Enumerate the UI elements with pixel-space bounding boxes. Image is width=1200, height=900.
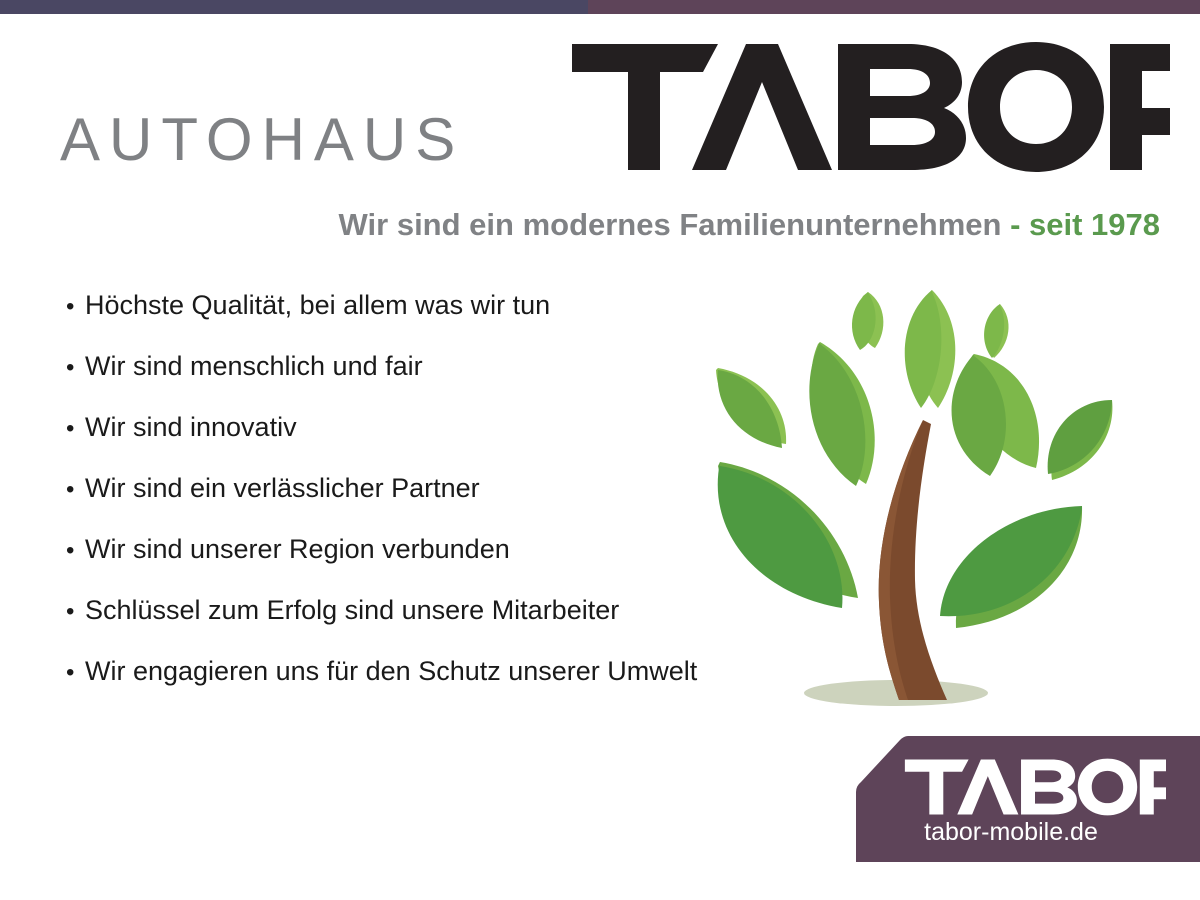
leaf-top-center bbox=[905, 290, 956, 408]
corner-brand-banner: tabor-mobile.de bbox=[856, 736, 1200, 862]
list-item-label: Wir sind ein verlässlicher Partner bbox=[85, 475, 480, 502]
tabor-wordmark-logo bbox=[570, 42, 1170, 172]
tagline: Wir sind ein modernes Familienunternehme… bbox=[0, 208, 1160, 242]
bullet-dot-icon: • bbox=[66, 295, 85, 319]
bullet-dot-icon: • bbox=[66, 661, 85, 685]
list-item-label: Höchste Qualität, bei allem was wir tun bbox=[85, 292, 550, 319]
tagline-accent-text: - seit 1978 bbox=[1010, 207, 1160, 242]
list-item-label: Wir engagieren uns für den Schutz unsere… bbox=[85, 658, 697, 685]
stylized-tree-icon bbox=[700, 268, 1130, 718]
bullet-dot-icon: • bbox=[66, 417, 85, 441]
leaf-upper-left bbox=[809, 342, 874, 486]
leaf-upper-right bbox=[952, 354, 1040, 476]
leaf-far-left bbox=[716, 368, 786, 448]
list-item-label: Wir sind unserer Region verbunden bbox=[85, 536, 510, 563]
slide-canvas: AUTOHAUS Wir sind ein modernes Familienu… bbox=[0, 0, 1200, 900]
bullet-dot-icon: • bbox=[66, 478, 85, 502]
list-item-label: Wir sind innovativ bbox=[85, 414, 297, 441]
brand-header: AUTOHAUS bbox=[60, 42, 1160, 172]
leaf-top-small-right bbox=[984, 304, 1008, 358]
bullet-dot-icon: • bbox=[66, 539, 85, 563]
top-bar-left-segment bbox=[0, 0, 588, 14]
top-bar-hairline bbox=[0, 14, 1200, 16]
bullet-dot-icon: • bbox=[66, 356, 85, 380]
list-item-label: Schlüssel zum Erfolg sind unsere Mitarbe… bbox=[85, 597, 619, 624]
leaf-lower-left bbox=[718, 462, 858, 608]
top-decorative-bar bbox=[0, 0, 1200, 14]
list-item-label: Wir sind menschlich und fair bbox=[85, 353, 423, 380]
bullet-dot-icon: • bbox=[66, 600, 85, 624]
autohaus-prefix-text: AUTOHAUS bbox=[60, 110, 464, 170]
top-bar-right-segment bbox=[588, 0, 1200, 14]
banner-tabor-wordmark bbox=[904, 758, 1166, 816]
leaf-lower-right bbox=[940, 506, 1082, 628]
banner-website-url[interactable]: tabor-mobile.de bbox=[856, 820, 1166, 845]
leaf-far-right bbox=[1048, 400, 1113, 480]
leaf-top-small-left bbox=[852, 292, 883, 350]
tagline-main-text: Wir sind ein modernes Familienunternehme… bbox=[339, 207, 1011, 242]
